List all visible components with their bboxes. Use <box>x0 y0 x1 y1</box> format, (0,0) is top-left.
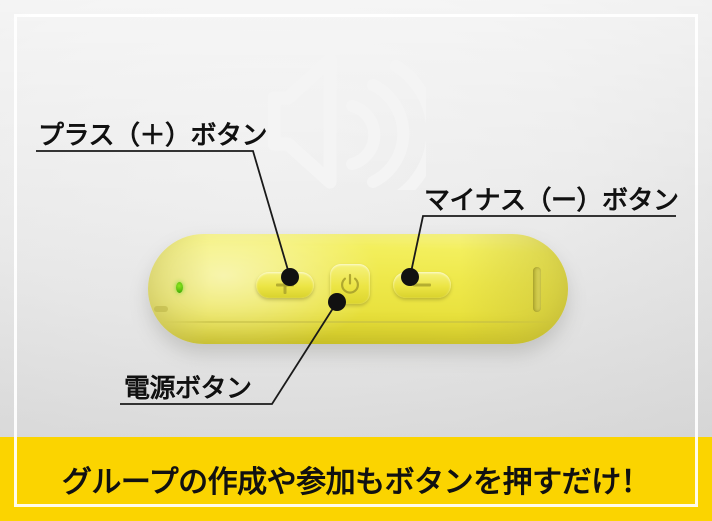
device-left-shading <box>148 234 220 344</box>
power-button[interactable] <box>330 264 370 304</box>
bottom-banner: グループの作成や参加もボタンを押すだけ！ <box>0 437 712 521</box>
callout-label-power: 電源ボタン <box>124 368 252 405</box>
plus-icon-vertical <box>284 276 287 294</box>
device-left-notch <box>154 306 168 312</box>
device-seam-line <box>161 321 556 323</box>
volume-up-button[interactable] <box>256 272 314 298</box>
yellow-pill-bluetooth-speaker <box>148 234 568 344</box>
minus-icon <box>413 284 431 287</box>
side-slot-port <box>533 267 541 312</box>
volume-speaker-icon <box>268 52 426 190</box>
power-icon <box>339 273 361 295</box>
bottom-banner-inner: グループの作成や参加もボタンを押すだけ！ <box>0 437 712 521</box>
bottom-banner-text: グループの作成や参加もボタンを押すだけ！ <box>62 457 650 501</box>
volume-down-button[interactable] <box>393 272 451 298</box>
callout-label-minus: マイナス（ー）ボタン <box>424 180 678 217</box>
illustration-canvas: プラス（＋）ボタン マイナス（ー）ボタン 電源ボタン グループの作成や参加もボタ… <box>0 0 712 521</box>
callout-label-plus: プラス（＋）ボタン <box>38 115 267 152</box>
status-led <box>176 282 183 293</box>
device-right-shading <box>448 234 568 344</box>
